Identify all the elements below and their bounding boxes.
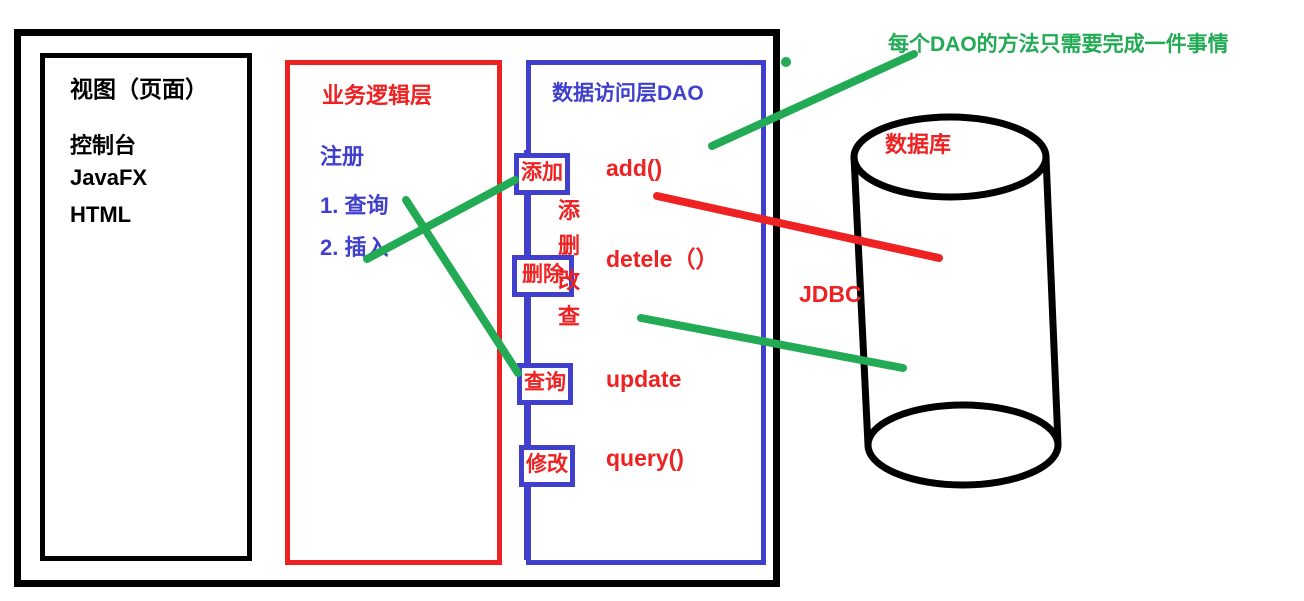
business-logic-layer-title: 业务逻辑层 xyxy=(322,78,432,110)
database-label: 数据库 xyxy=(885,127,951,159)
dao-op-box-add: 添加 xyxy=(514,153,570,195)
connector-dot-marker xyxy=(781,57,791,67)
database-cylinder-icon xyxy=(830,105,1080,495)
crud-char-read: 查 xyxy=(558,299,580,334)
dao-method-delete: detele（） xyxy=(606,240,718,274)
business-logic-layer-box xyxy=(285,60,502,565)
crud-char-update: 改 xyxy=(558,263,580,298)
view-layer-item-console: 控制台 xyxy=(70,128,136,160)
dao-layer-title: 数据访问层DAO xyxy=(552,77,704,107)
dao-crud-vertical-column: 添 删 改 查 xyxy=(558,193,580,334)
view-layer-item-html: HTML xyxy=(70,202,131,228)
dao-method-add: add() xyxy=(606,155,662,182)
diagram-canvas: 视图（页面） 控制台 JavaFX HTML 业务逻辑层 注册 1. 查询 2.… xyxy=(0,0,1304,601)
dao-op-box-query: 查询 xyxy=(517,363,573,405)
view-layer-item-javafx: JavaFX xyxy=(70,165,147,191)
crud-char-create: 添 xyxy=(558,193,580,228)
annotation-jdbc-label: JDBC xyxy=(799,281,862,308)
business-logic-step-1: 1. 查询 xyxy=(320,188,388,220)
annotation-dao-note: 每个DAO的方法只需要完成一件事情 xyxy=(888,28,1229,58)
dao-op-box-modify: 修改 xyxy=(519,445,575,487)
dao-method-query: query() xyxy=(606,445,684,472)
business-logic-subtitle-register: 注册 xyxy=(320,139,364,171)
crud-char-delete: 删 xyxy=(558,228,580,263)
view-layer-title: 视图（页面） xyxy=(70,70,208,104)
business-logic-step-2: 2. 插入 xyxy=(320,230,388,262)
dao-method-update: update xyxy=(606,366,681,393)
dao-spine-line xyxy=(524,150,530,560)
